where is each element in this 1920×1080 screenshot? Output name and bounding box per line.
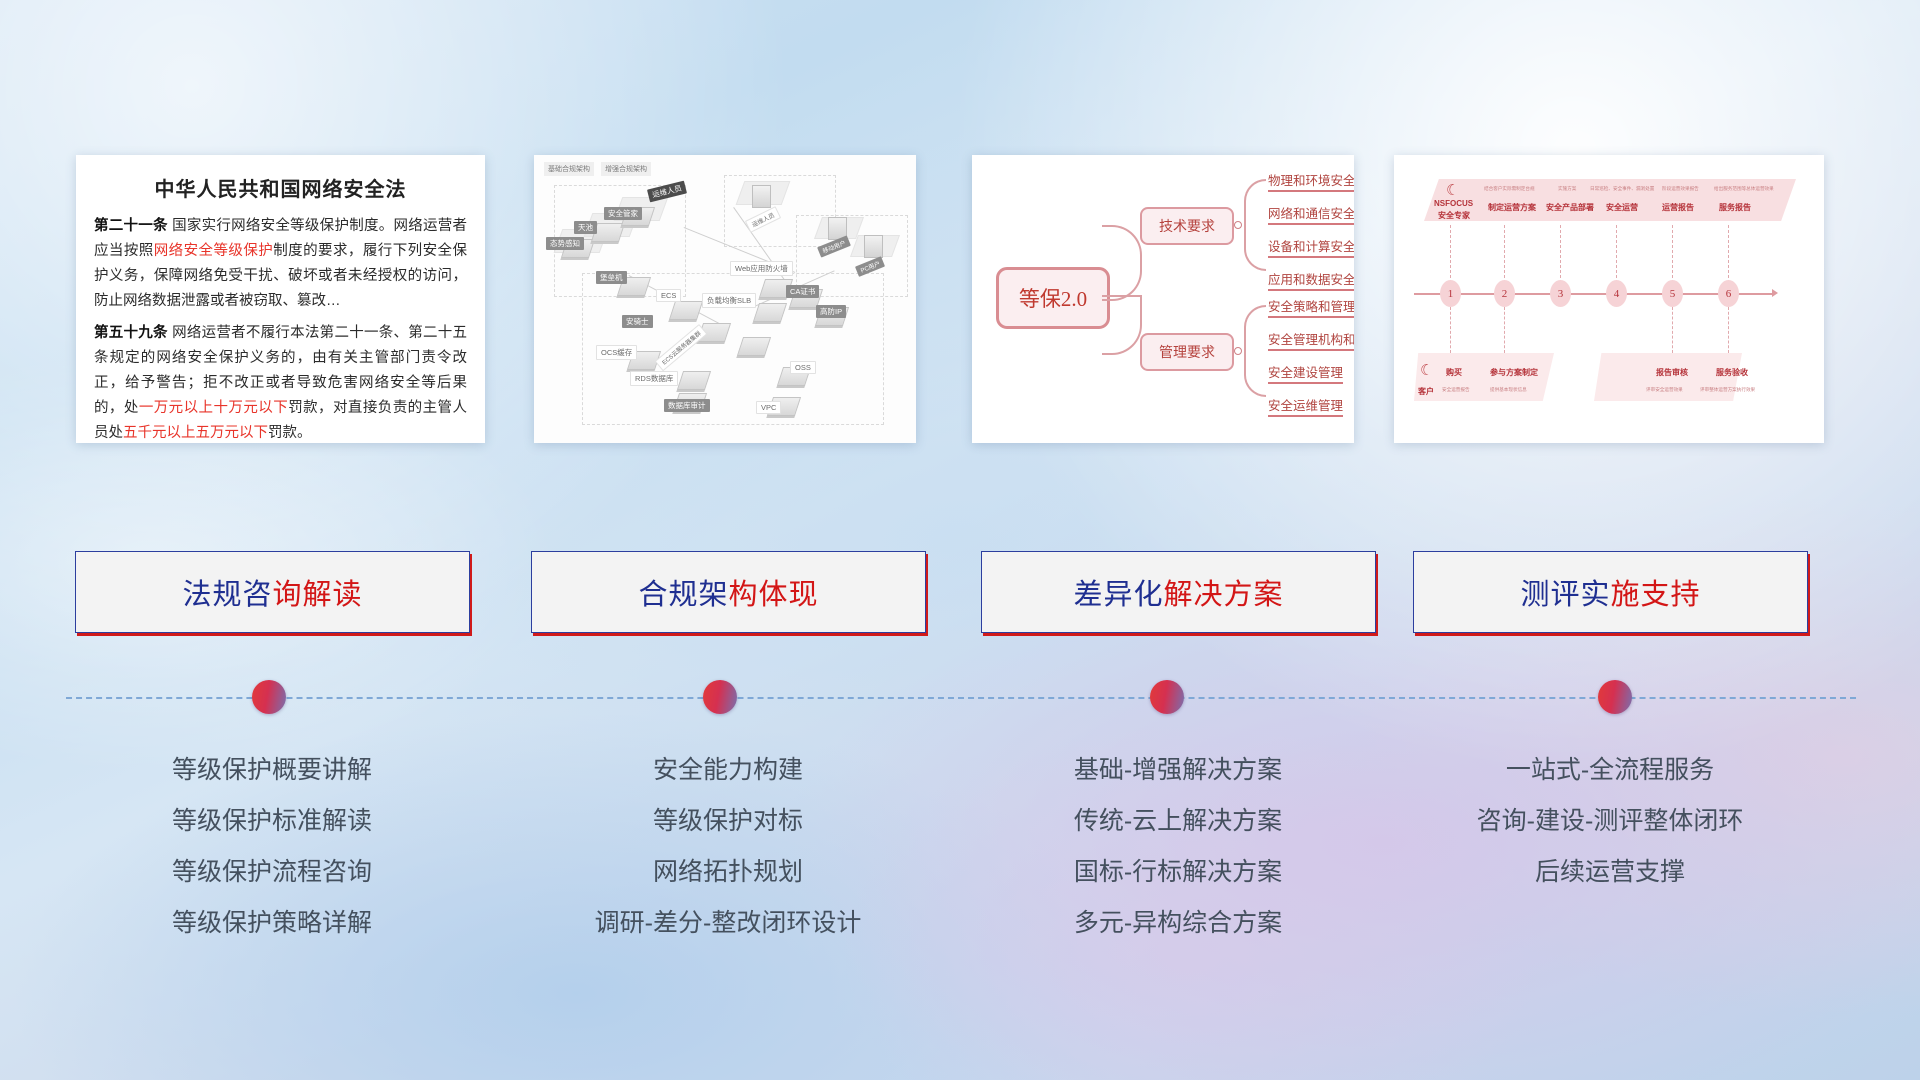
page-content: 中华人民共和国网络安全法 第二十一条 国家实行网络安全等级保护制度。网络运营者应…	[0, 0, 1920, 1080]
arch-tag-basic: 基础合规架构	[544, 162, 594, 176]
list-item: 安全能力构建	[530, 745, 926, 796]
top-caption-2: 实施方案	[1558, 186, 1576, 192]
bullet-column-2: 安全能力构建 等级保护对标 网络拓扑规划 调研-差分-整改闭环设计	[530, 745, 926, 949]
bottom-title-4: 服务验收	[1716, 367, 1748, 378]
article-59-text-3: 罚款。	[268, 425, 312, 441]
article-21-label: 第二十一条	[94, 218, 168, 234]
arch-label-situational: 态势感知	[546, 237, 584, 250]
tick-3	[1560, 225, 1561, 283]
mindmap: 等保2.0 技术要求 物理和环境安全 网络和通信安全 设备和计算安全 应用和数据…	[972, 155, 1354, 443]
arch-server-pc	[864, 235, 883, 258]
article-59-label: 第五十九条	[94, 325, 168, 341]
mindmap-connector-mgmt	[1102, 295, 1142, 355]
mindmap-connector-tech	[1102, 225, 1142, 301]
mindmap-leaf-mgmt-1-text: 安全策略和管理制度	[1268, 300, 1354, 314]
top-title-5: 服务报告	[1719, 202, 1751, 213]
arch-label-dbaudit: 数据库审计	[664, 399, 710, 412]
flow-number-4: 4	[1606, 280, 1627, 307]
header-3-red: 解决方案	[1164, 579, 1284, 611]
mindmap-root: 等保2.0	[996, 267, 1110, 329]
section-header-1[interactable]: 法规咨询解读	[75, 551, 470, 633]
list-item: 等级保护对标	[530, 796, 926, 847]
bottom-caption-1: 安全运营报告	[1442, 387, 1470, 393]
arch-label-anqishi: 安骑士	[622, 315, 653, 328]
bottom-caption-2: 提供基本现状信息	[1490, 387, 1527, 393]
mindmap-underline	[1268, 223, 1354, 225]
bullet-list-1: 等级保护概要讲解 等级保护标准解读 等级保护流程咨询 等级保护策略详解	[74, 745, 470, 949]
top-title-4: 运营报告	[1662, 202, 1694, 213]
header-2-red: 构体现	[729, 579, 819, 611]
top-title-1: 制定运营方案	[1488, 202, 1536, 213]
flow-number-3: 3	[1550, 280, 1571, 307]
mindmap-leaf-tech-4-text: 应用和数据安全	[1268, 273, 1354, 287]
bottom-caption-3: 评审安全运营效果	[1646, 387, 1683, 393]
header-2-blue: 合规架	[638, 579, 728, 611]
mindmap-leaf-tech-3: 设备和计算安全	[1268, 236, 1354, 258]
section-header-4[interactable]: 测评实施支持	[1413, 551, 1808, 633]
architecture-diagram: 基础合规架构 增强合规架构	[534, 155, 916, 443]
bullet-column-1: 等级保护概要讲解 等级保护标准解读 等级保护流程咨询 等级保护策略详解	[74, 745, 470, 949]
card-law: 中华人民共和国网络安全法 第二十一条 国家实行网络安全等级保护制度。网络运营者应…	[76, 155, 485, 443]
list-item: 等级保护标准解读	[74, 796, 470, 847]
arch-label-oss: OSS	[790, 361, 816, 374]
list-item: 网络拓扑规划	[530, 847, 926, 898]
bottom-title-3: 报告审核	[1656, 367, 1688, 378]
arch-label-manager: 安全管家	[604, 207, 642, 220]
architecture-tags: 基础合规架构 增强合规架构	[544, 162, 651, 176]
mindmap-leaf-tech-1-text: 物理和环境安全	[1268, 174, 1354, 188]
mindmap-leaf-mgmt-4: 安全运维管理	[1268, 395, 1343, 417]
arch-label-tianchi: 天池	[574, 221, 597, 234]
list-item: 咨询-建设-测评整体闭环	[1412, 796, 1808, 847]
arch-label-bastion: 堡垒机	[596, 271, 627, 284]
mindmap-underline	[1268, 316, 1354, 318]
law-article-59: 第五十九条 网络运营者不履行本法第二十一条、第二十五条规定的网络安全保护义务的，…	[94, 321, 467, 443]
arch-label-gaofang: 高防IP	[816, 305, 846, 318]
bullet-column-3: 基础-增强解决方案 传统-云上解决方案 国标-行标解决方案 多元-异构综合方案	[980, 745, 1376, 949]
bottom-title-2: 参与方案制定	[1490, 367, 1538, 378]
bottom-title-1: 购买	[1446, 367, 1462, 378]
top-caption-4: 阶段运营效果报告	[1662, 186, 1699, 192]
header-1-red: 询解读	[273, 579, 363, 611]
mindmap-leaf-mgmt-2: 安全管理机构和人员	[1268, 329, 1354, 351]
tick-4	[1616, 225, 1617, 283]
mindmap-dot-tech	[1234, 221, 1242, 229]
mindmap-leaf-mgmt-1: 安全策略和管理制度	[1268, 296, 1354, 318]
mindmap-underline	[1268, 289, 1354, 291]
bullet-column-4: 一站式-全流程服务 咨询-建设-测评整体闭环 后续运营支撑	[1412, 745, 1808, 898]
article-59-highlight-1: 一万元以上十万元以下	[139, 400, 288, 416]
section-header-1-text: 法规咨询解读	[182, 571, 362, 613]
flow-number-6: 6	[1718, 280, 1739, 307]
arch-label-ocs: OCS缓存	[596, 345, 637, 360]
bullet-list-4: 一站式-全流程服务 咨询-建设-测评整体闭环 后续运营支撑	[1412, 745, 1808, 898]
article-21-highlight: 网络安全等级保护	[154, 243, 274, 259]
tick-2	[1504, 225, 1505, 283]
expert-label-line1: NSFOCUS	[1434, 199, 1473, 208]
mindmap-leaf-mgmt-4-text: 安全运维管理	[1268, 399, 1343, 413]
section-header-3-text: 差异化解决方案	[1073, 571, 1283, 613]
arch-label-slb: 负载均衡SLB	[702, 293, 756, 308]
mindmap-leaf-mgmt-3-text: 安全建设管理	[1268, 366, 1343, 380]
mindmap-leaf-tech-3-text: 设备和计算安全	[1268, 240, 1354, 254]
timeline-dot-4[interactable]	[1598, 680, 1632, 714]
mindmap-underline	[1268, 256, 1354, 258]
mindmap-leaf-mgmt-3: 安全建设管理	[1268, 362, 1343, 384]
law-article-21: 第二十一条 国家实行网络安全等级保护制度。网络运营者应当按照网络安全等级保护制度…	[94, 214, 467, 314]
top-title-3: 安全运营	[1606, 202, 1638, 213]
section-header-2-text: 合规架构体现	[638, 571, 818, 613]
expert-person-icon: ☾	[1446, 181, 1459, 199]
tick-b1	[1450, 307, 1451, 353]
tick-b2	[1504, 307, 1505, 353]
bullet-list-2: 安全能力构建 等级保护对标 网络拓扑规划 调研-差分-整改闭环设计	[530, 745, 926, 949]
list-item: 一站式-全流程服务	[1412, 745, 1808, 796]
tick-1	[1450, 225, 1451, 283]
timeline-line	[66, 697, 1856, 699]
mindmap-leaf-tech-2-text: 网络和通信安全	[1268, 207, 1354, 221]
list-item: 等级保护流程咨询	[74, 847, 470, 898]
top-caption-5: 给出服务范围等总体运营效果	[1714, 186, 1774, 192]
mindmap-branch-tech: 技术要求	[1140, 207, 1234, 245]
article-59-highlight-2: 五千元以上五万元以下	[123, 425, 268, 441]
list-item: 基础-增强解决方案	[980, 745, 1376, 796]
list-item: 国标-行标解决方案	[980, 847, 1376, 898]
arch-label-ca: CA证书	[786, 285, 819, 298]
card-mindmap: 等保2.0 技术要求 物理和环境安全 网络和通信安全 设备和计算安全 应用和数据…	[972, 155, 1354, 443]
expert-label-line2: 安全专家	[1438, 210, 1470, 221]
section-header-3[interactable]: 差异化解决方案	[981, 551, 1376, 633]
section-header-2[interactable]: 合规架构体现	[531, 551, 926, 633]
list-item: 等级保护策略详解	[74, 898, 470, 949]
mindmap-dot-mgmt	[1234, 347, 1242, 355]
top-caption-1: 结合客户实际需制定台规	[1484, 186, 1535, 192]
customer-person-icon: ☾	[1420, 361, 1433, 379]
mindmap-underline	[1268, 415, 1343, 417]
mindmap-leaf-tech-2: 网络和通信安全	[1268, 203, 1354, 225]
customer-label: 客户	[1418, 386, 1434, 397]
mindmap-branch-mgmt: 管理要求	[1140, 333, 1234, 371]
mindmap-leaf-tech-4: 应用和数据安全	[1268, 269, 1354, 291]
law-body: 中华人民共和国网络安全法 第二十一条 国家实行网络安全等级保护制度。网络运营者应…	[76, 155, 485, 443]
header-1-blue: 法规咨	[182, 579, 272, 611]
tick-b3	[1672, 307, 1673, 353]
arch-label-ecs: ECS	[656, 289, 681, 302]
mindmap-leaf-tech-1: 物理和环境安全	[1268, 170, 1354, 192]
flow-number-2: 2	[1494, 280, 1515, 307]
arch-tag-enhanced: 增强合规架构	[601, 162, 651, 176]
tick-6	[1728, 225, 1729, 283]
mindmap-fan-mgmt	[1244, 305, 1266, 397]
mindmap-underline	[1268, 190, 1354, 192]
flow-arrow-icon	[1772, 289, 1778, 297]
list-item: 传统-云上解决方案	[980, 796, 1376, 847]
header-3-blue: 差异化	[1073, 579, 1163, 611]
top-caption-3: 日常巡检、安全事件、漏洞处置	[1590, 186, 1654, 192]
arch-label-waf: Web应用防火墙	[730, 261, 793, 276]
mindmap-fan-tech	[1244, 179, 1266, 271]
tick-b4	[1728, 307, 1729, 353]
flow-number-5: 5	[1662, 280, 1683, 307]
law-title: 中华人民共和国网络安全法	[94, 173, 467, 202]
header-4-red: 施支持	[1611, 579, 1701, 611]
list-item: 等级保护概要讲解	[74, 745, 470, 796]
flow-number-1: 1	[1440, 280, 1461, 307]
mindmap-underline	[1268, 382, 1343, 384]
nsfocus-diagram: ☾ NSFOCUS 安全专家 结合客户实际需制定台规 制定运营方案 实施方案 安…	[1394, 155, 1824, 443]
list-item: 多元-异构综合方案	[980, 898, 1376, 949]
card-nsfocus-flow: ☾ NSFOCUS 安全专家 结合客户实际需制定台规 制定运营方案 实施方案 安…	[1394, 155, 1824, 443]
timeline-dot-2[interactable]	[703, 680, 737, 714]
tick-5	[1672, 225, 1673, 283]
card-architecture: 基础合规架构 增强合规架构	[534, 155, 916, 443]
bullet-list-3: 基础-增强解决方案 传统-云上解决方案 国标-行标解决方案 多元-异构综合方案	[980, 745, 1376, 949]
arch-label-rds: RDS数据库	[630, 371, 678, 386]
section-header-4-text: 测评实施支持	[1520, 571, 1700, 613]
header-4-blue: 测评实	[1520, 579, 1610, 611]
top-title-2: 安全产品部署	[1546, 202, 1594, 213]
timeline-dot-1[interactable]	[252, 680, 286, 714]
timeline-dot-3[interactable]	[1150, 680, 1184, 714]
mindmap-underline	[1268, 349, 1354, 351]
list-item: 调研-差分-整改闭环设计	[530, 898, 926, 949]
arch-label-vpc: VPC	[756, 401, 781, 414]
bottom-caption-4: 评审整体运营方案执行效果	[1700, 387, 1755, 393]
list-item: 后续运营支撑	[1412, 847, 1808, 898]
arch-server-ops	[752, 185, 771, 208]
mindmap-leaf-mgmt-2-text: 安全管理机构和人员	[1268, 333, 1354, 347]
